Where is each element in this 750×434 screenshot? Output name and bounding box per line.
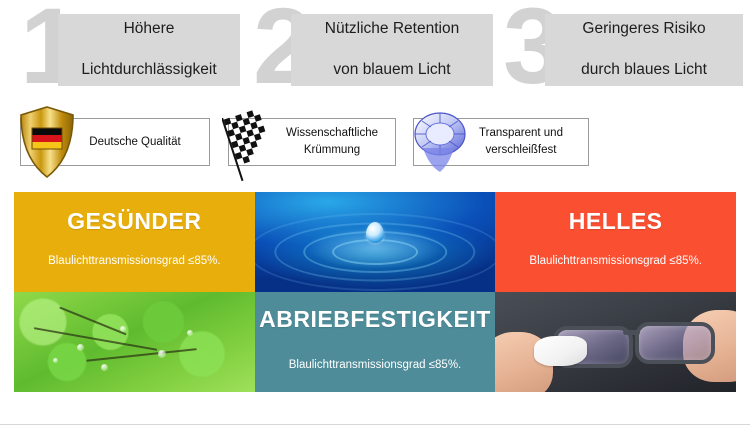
panel-water-droplet — [255, 192, 496, 292]
badge-label-2-line1: Wissenschaftliche — [286, 127, 378, 139]
dew-drop-6 — [53, 358, 58, 363]
panel-abriebfestigkeit: ABRIEBFESTIGKEIT Blaulichttransmissionsg… — [255, 292, 496, 392]
cleaning-cloth-shape — [534, 336, 587, 366]
green-leaves-photo — [14, 292, 255, 392]
panel-gesuender-title: GESÜNDER — [67, 208, 201, 235]
eyeglass-lens-right — [635, 322, 715, 364]
panel-green-leaves — [14, 292, 255, 392]
badge-wissenschaftliche-kruemmung: WissenschaftlicheKrümmung — [228, 118, 396, 166]
feature-item-1: 1 HöhereLichtdurchlässigkeit — [14, 0, 240, 100]
panel-gesuender-text: GESÜNDER Blaulichttransmissionsgrad ≤85%… — [14, 192, 255, 292]
panel-helles-subtitle: Blaulichttransmissionsgrad ≤85%. — [529, 255, 702, 267]
diamond-icon — [409, 104, 471, 181]
cleaning-glasses-photo — [495, 292, 736, 392]
dew-drop-3 — [158, 350, 166, 358]
feature-label-3: Geringeres Risikodurch blaues Licht — [569, 19, 719, 81]
feature-label-3-line1: Geringeres Risiko — [575, 19, 713, 40]
badge-label-1-line1: Deutsche Qualität — [89, 136, 180, 148]
german-shield-icon — [16, 104, 78, 185]
feature-label-2-line2: von blauem Licht — [319, 60, 465, 81]
water-droplet-photo — [255, 192, 496, 292]
panel-helles: HELLES Blaulichttransmissionsgrad ≤85%. — [495, 192, 736, 292]
panel-abriebfestigkeit-text: ABRIEBFESTIGKEIT Blaulichttransmissionsg… — [255, 292, 496, 392]
leaf-stem-2 — [86, 348, 196, 361]
panel-helles-title: HELLES — [569, 208, 663, 235]
dew-drop-5 — [101, 364, 108, 371]
feature-textbox-2: Nützliche Retentionvon blauem Licht — [291, 14, 493, 86]
feature-header-row: 1 HöhereLichtdurchlässigkeit 2 Nützliche… — [0, 0, 750, 100]
feature-label-2: Nützliche Retentionvon blauem Licht — [313, 19, 471, 81]
panel-abriebfestigkeit-subtitle: Blaulichttransmissionsgrad ≤85%. — [289, 359, 462, 371]
feature-label-1-line2: Lichtdurchlässigkeit — [75, 60, 222, 81]
panel-abriebfestigkeit-title: ABRIEBFESTIGKEIT — [259, 306, 491, 333]
panel-cleaning-glasses — [495, 292, 736, 392]
dew-drop-2 — [120, 326, 126, 332]
feature-label-3-line2: durch blaues Licht — [575, 60, 713, 81]
water-drop-shape — [366, 222, 384, 243]
badge-transparent-verschleissfest: Transparent undverschleißfest — [413, 118, 589, 166]
leaf-stem-3 — [60, 307, 128, 336]
badge-row: Deutsche Qualität — [0, 100, 750, 188]
badge-label-3-line1: Transparent und — [479, 127, 563, 139]
dew-drop-1 — [77, 344, 84, 351]
badge-label-2-line2: Krümmung — [304, 144, 360, 156]
leaf-stem-1 — [34, 327, 158, 350]
infographic-page: 1 HöhereLichtdurchlässigkeit 2 Nützliche… — [0, 0, 750, 434]
feature-panel-grid: GESÜNDER Blaulichttransmissionsgrad ≤85%… — [14, 192, 736, 392]
feature-textbox-1: HöhereLichtdurchlässigkeit — [58, 14, 240, 86]
panel-helles-text: HELLES Blaulichttransmissionsgrad ≤85%. — [495, 192, 736, 292]
checkered-flag-icon — [222, 102, 282, 187]
feature-label-1-line1: Höhere — [75, 19, 222, 40]
badge-label-3-line2: verschleißfest — [486, 144, 557, 156]
feature-textbox-3: Geringeres Risikodurch blaues Licht — [545, 14, 743, 86]
badge-deutsche-qualitaet: Deutsche Qualität — [20, 118, 210, 166]
bottom-divider — [0, 424, 750, 425]
feature-item-3: 3 Geringeres Risikodurch blaues Licht — [503, 0, 743, 100]
panel-gesuender: GESÜNDER Blaulichttransmissionsgrad ≤85%… — [14, 192, 255, 292]
eyeglass-bridge — [623, 330, 640, 335]
dew-drop-4 — [187, 330, 193, 336]
feature-item-2: 2 Nützliche Retentionvon blauem Licht — [253, 0, 493, 100]
feature-label-1: HöhereLichtdurchlässigkeit — [69, 19, 228, 81]
panel-gesuender-subtitle: Blaulichttransmissionsgrad ≤85%. — [48, 255, 221, 267]
feature-label-2-line1: Nützliche Retention — [319, 19, 465, 40]
